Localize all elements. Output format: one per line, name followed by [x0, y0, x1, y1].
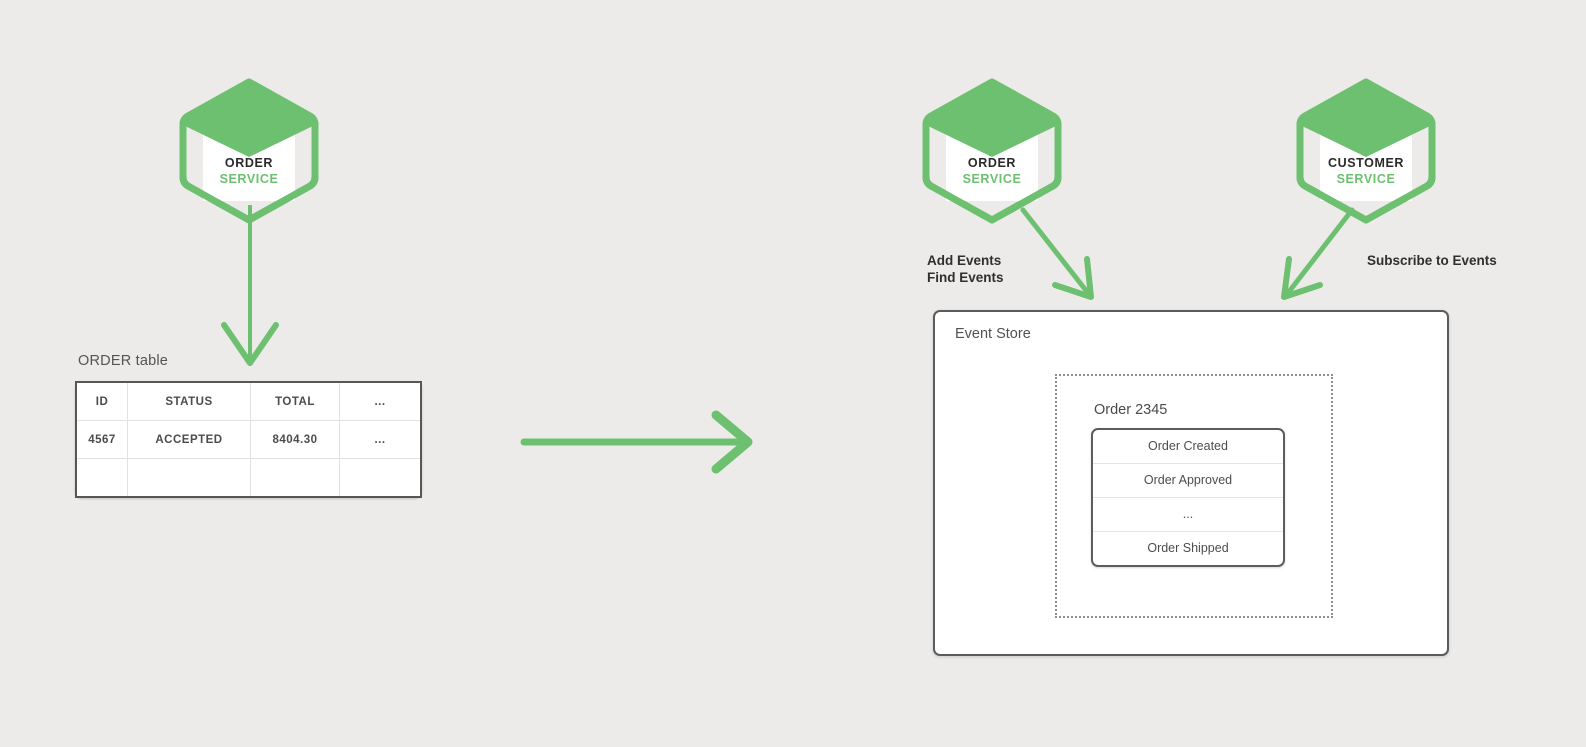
subscribe-to-events-label: Subscribe to Events [1367, 252, 1497, 269]
order-table-container: ID STATUS TOTAL ... 4567 ACCEPTED 8404.3… [75, 381, 415, 493]
arrow-right-icon [520, 410, 760, 475]
event-list-item: Order Shipped [1093, 532, 1283, 565]
table-row: 4567 ACCEPTED 8404.30 ... [76, 421, 421, 459]
find-events-text: Find Events [927, 269, 1004, 286]
table-cell-id: 4567 [76, 421, 128, 459]
diagram-canvas: ORDER SERVICE ORDER table ID STATUS TOTA… [0, 0, 1586, 747]
event-store-box: Event Store Order 2345 Order Created Ord… [933, 310, 1449, 656]
table-cell-empty [340, 459, 422, 498]
table-cell-empty [128, 459, 251, 498]
add-find-events-label: Add Events Find Events [927, 252, 1004, 287]
table-header-cell: ... [340, 382, 422, 421]
event-stream-title: Order 2345 [1094, 402, 1167, 418]
arrow-diagonal-down-left-icon [1272, 205, 1362, 305]
table-header-cell: ID [76, 382, 128, 421]
order-table-caption: ORDER table [78, 353, 168, 369]
service-hexagon-customer: CUSTOMER SERVICE [1296, 78, 1436, 224]
table-header-row: ID STATUS TOTAL ... [76, 382, 421, 421]
hexagon-shape-icon [179, 78, 319, 224]
service-hexagon-order-left: ORDER SERVICE [179, 78, 319, 224]
event-list-item: Order Approved [1093, 464, 1283, 498]
event-list-item: ... [1093, 498, 1283, 532]
table-row-empty [76, 459, 421, 498]
table-cell-total: 8404.30 [251, 421, 340, 459]
event-store-title: Event Store [955, 326, 1031, 342]
arrow-diagonal-down-right-icon [1018, 205, 1108, 305]
table-cell-empty [251, 459, 340, 498]
hexagon-shape-icon [922, 78, 1062, 224]
table-header-cell: STATUS [128, 382, 251, 421]
hexagon-shape-icon [1296, 78, 1436, 224]
table-cell-empty [76, 459, 128, 498]
table-header-cell: TOTAL [251, 382, 340, 421]
event-stream-dotted-box: Order 2345 Order Created Order Approved … [1055, 374, 1333, 618]
table-cell-status: ACCEPTED [128, 421, 251, 459]
arrow-down-icon [210, 205, 290, 370]
order-table: ID STATUS TOTAL ... 4567 ACCEPTED 8404.3… [75, 381, 422, 498]
service-hexagon-order-right: ORDER SERVICE [922, 78, 1062, 224]
event-list: Order Created Order Approved ... Order S… [1091, 428, 1285, 567]
event-list-item: Order Created [1093, 430, 1283, 464]
add-events-text: Add Events [927, 252, 1004, 269]
table-cell-more: ... [340, 421, 422, 459]
